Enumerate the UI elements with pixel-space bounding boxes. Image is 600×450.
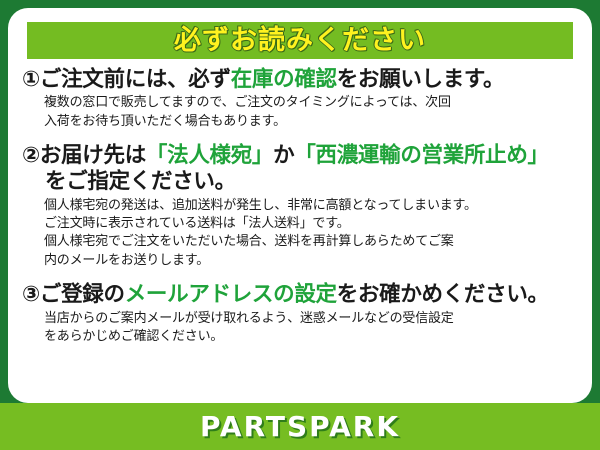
header-banner: 必ずお読みください: [27, 22, 573, 59]
white-panel: 必ずお読みください ①ご注文前には、必ず在庫の確認をお願いします。 複数の窓口で…: [8, 8, 592, 403]
item-1-subtext-line-2: 入荷をお待ち頂いただく場合もあります。: [44, 113, 580, 131]
banner-title: 必ずお読みください: [174, 27, 426, 54]
notice-card: 必ずお読みください ①ご注文前には、必ず在庫の確認をお願いします。 複数の窓口で…: [0, 0, 600, 450]
item-2-subtext: 個人様宅宛の発送は、追加送料が発生し、非常に高額となってしまいます。 ご注文時に…: [22, 197, 580, 271]
item-3-heading-highlight: メールアドレスの設定: [125, 282, 337, 307]
notice-item-2: ②お届け先は「法人様宛」か「西濃運輸の営業所止め」をご指定ください。 個人様宅宛…: [22, 143, 580, 270]
item-2-marker: ②: [22, 143, 40, 168]
item-2-heading-second-line: をご指定ください。: [22, 169, 580, 195]
item-3-subtext-line-1: 当店からのご案内メールが受け取れるよう、迷惑メールなどの受信設定: [44, 310, 580, 328]
item-1-subtext-line-1: 複数の窓口で販売してますので、ご注文のタイミングによっては、次回: [44, 94, 580, 112]
item-2-heading: ②お届け先は「法人様宛」か「西濃運輸の営業所止め」をご指定ください。: [22, 143, 580, 195]
item-3-subtext: 当店からのご案内メールが受け取れるよう、迷惑メールなどの受信設定 をあらかじめご…: [22, 310, 580, 347]
item-2-heading-pre: お届け先は: [40, 143, 146, 168]
item-1-subtext: 複数の窓口で販売してますので、ご注文のタイミングによっては、次回 入荷をお待ち頂…: [22, 94, 580, 131]
item-3-heading: ③ご登録のメールアドレスの設定をお確かめください。: [22, 282, 580, 308]
notice-body: ①ご注文前には、必ず在庫の確認をお願いします。 複数の窓口で販売してますので、ご…: [8, 65, 592, 350]
item-3-subtext-line-2: をあらかじめご確認ください。: [44, 328, 580, 346]
item-2-heading-mid: か: [273, 143, 294, 168]
item-1-heading: ①ご注文前には、必ず在庫の確認をお願いします。: [22, 67, 580, 93]
notice-item-1: ①ご注文前には、必ず在庫の確認をお願いします。 複数の窓口で販売してますので、ご…: [22, 67, 580, 131]
item-3-heading-pre: ご登録の: [40, 282, 125, 307]
item-3-heading-post: をお確かめください。: [337, 282, 549, 307]
footer-bar: PARTSPARK: [0, 403, 600, 450]
item-2-subtext-line-4: 内のメールをお送りします。: [44, 252, 580, 270]
item-1-marker: ①: [22, 67, 40, 92]
item-2-subtext-line-1: 個人様宅宛の発送は、追加送料が発生し、非常に高額となってしまいます。: [44, 197, 580, 215]
item-2-heading-highlight-1: 「法人様宛」: [146, 143, 273, 168]
brand-logo-text: PARTSPARK: [200, 413, 400, 441]
item-1-heading-post: をお願いします。: [337, 67, 504, 92]
item-2-subtext-line-2: ご注文時に表示されている送料は「法人送料」です。: [44, 215, 580, 233]
item-3-marker: ③: [22, 282, 40, 307]
item-1-heading-highlight: 在庫の確認: [231, 67, 337, 92]
item-2-subtext-line-3: 個人様宅宛でご注文をいただいた場合、送料を再計算しあらためてご案: [44, 233, 580, 251]
item-1-heading-pre: ご注文前には、必ず: [40, 67, 231, 92]
notice-item-3: ③ご登録のメールアドレスの設定をお確かめください。 当店からのご案内メールが受け…: [22, 282, 580, 346]
item-2-heading-highlight-2: 「西濃運輸の営業所止め」: [294, 143, 548, 168]
